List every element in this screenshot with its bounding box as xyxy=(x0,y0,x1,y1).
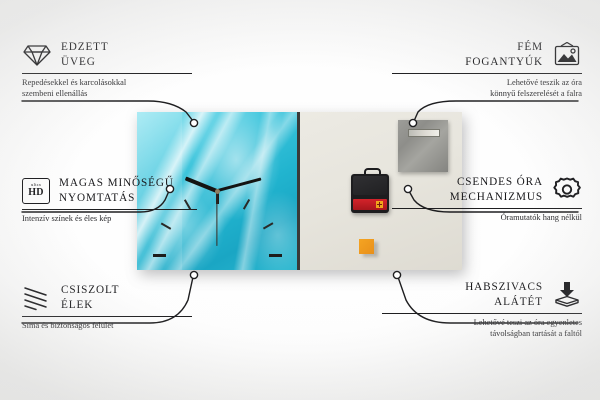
feature-subtitle: Lehetővé teszik az óra könnyű felszerelé… xyxy=(392,77,582,100)
feature-heading: CSISZOLTÉLEK xyxy=(22,283,192,313)
gear-icon xyxy=(552,176,582,204)
feature-metal-handles[interactable]: FÉMFOGANTYÚK Lehetővé teszik az óra könn… xyxy=(392,40,582,100)
feature-title: CSISZOLTÉLEK xyxy=(61,283,119,313)
metal-hanger-bracket xyxy=(398,120,448,172)
foam-spacer-pad xyxy=(359,239,374,254)
connector-node-foam-pad xyxy=(393,271,400,278)
feature-title: HABSZIVACSALÁTÉT xyxy=(465,280,543,310)
feature-subtitle: Óramutatók hang nélkül xyxy=(392,212,582,223)
clock-tick-9 xyxy=(153,254,166,257)
infographic-canvas: EDZETTÜVEG Repedésekkel és karcolásokkal… xyxy=(0,0,600,400)
feature-subtitle: Intenzív színek és éles kép xyxy=(22,213,197,224)
clock-hand-cap xyxy=(215,189,220,194)
ultra-hd-icon: ultra HD xyxy=(22,178,50,204)
feature-subtitle: Repedésekkel és karcolásokkal szembeni e… xyxy=(22,77,192,100)
hanger-slot xyxy=(408,129,440,137)
feature-divider xyxy=(392,73,582,74)
feature-title: EDZETTÜVEG xyxy=(61,40,109,70)
feature-heading: FÉMFOGANTYÚK xyxy=(392,40,582,70)
polished-edges-icon xyxy=(22,285,52,311)
picture-frame-icon xyxy=(552,42,582,68)
feature-title: CSENDES ÓRAMECHANIZMUS xyxy=(450,175,543,205)
feature-foam-pad[interactable]: HABSZIVACSALÁTÉT Lehetővé teszi az óra e… xyxy=(382,280,582,340)
clock-tick-3 xyxy=(269,254,282,257)
feature-divider xyxy=(22,73,192,74)
battery-plus-terminal xyxy=(376,201,383,208)
feature-silent-mechanism[interactable]: CSENDES ÓRAMECHANIZMUS Óramutatók hang n… xyxy=(392,175,582,223)
feature-divider xyxy=(22,209,197,210)
feature-title: MAGAS MINŐSÉGŰNYOMTATÁS xyxy=(59,176,174,206)
feature-divider xyxy=(392,208,582,209)
feature-polished-edges[interactable]: CSISZOLTÉLEK Sima és biztonságos felület xyxy=(22,283,192,331)
feature-heading: HABSZIVACSALÁTÉT xyxy=(382,280,582,310)
battery xyxy=(353,199,387,210)
ultra-hd-icon-main: HD xyxy=(28,188,43,198)
feature-title: FÉMFOGANTYÚK xyxy=(465,40,543,70)
feature-divider xyxy=(22,316,192,317)
feature-subtitle: Lehetővé teszi az óra egyenletes távolsá… xyxy=(382,317,582,340)
feature-subtitle: Sima és biztonságos felület xyxy=(22,320,192,331)
feature-tempered-glass[interactable]: EDZETTÜVEG Repedésekkel és karcolásokkal… xyxy=(22,40,192,100)
clock-mechanism xyxy=(351,174,389,213)
mechanism-body xyxy=(353,176,387,195)
feature-heading: CSENDES ÓRAMECHANIZMUS xyxy=(392,175,582,205)
diamond-icon xyxy=(22,42,52,68)
feature-high-quality-print[interactable]: ultra HD MAGAS MINŐSÉGŰNYOMTATÁS Intenzí… xyxy=(22,176,197,224)
foam-press-icon xyxy=(552,281,582,309)
feature-heading: ultra HD MAGAS MINŐSÉGŰNYOMTATÁS xyxy=(22,176,197,206)
feature-divider xyxy=(382,313,582,314)
connector-node-polished-edges xyxy=(190,271,197,278)
feature-heading: EDZETTÜVEG xyxy=(22,40,192,70)
